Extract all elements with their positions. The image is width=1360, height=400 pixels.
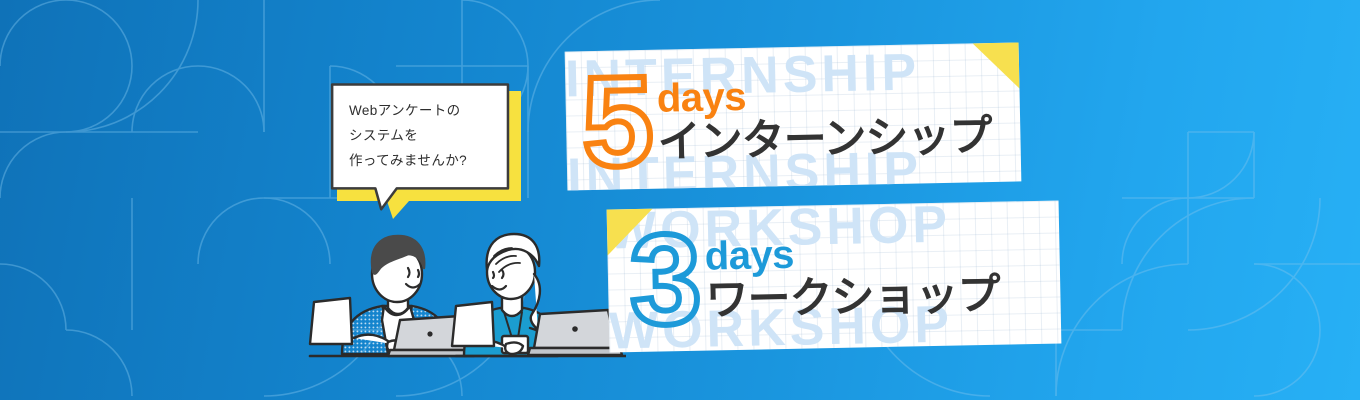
people-illustration <box>296 198 626 363</box>
speech-bubble: Webアンケートの システムを 作ってみませんか? <box>330 83 514 201</box>
card-internship[interactable]: INTERNSHIP INTERNSHIP 5 days インターンシップ <box>565 42 1022 190</box>
bubble-line-3: 作ってみませんか? <box>349 149 509 174</box>
card-title-internship: インターンシップ <box>657 114 992 166</box>
card-content-internship: 5 days インターンシップ <box>581 61 992 178</box>
card-workshop[interactable]: WORKSHOP WORKSHOP 3 days ワークショップ <box>607 200 1062 352</box>
days-label: days <box>656 72 991 119</box>
card-content-workshop: 3 days ワークショップ <box>629 220 1000 336</box>
speech-bubble-text: Webアンケートの システムを 作ってみませんか? <box>349 99 509 174</box>
bubble-line-1: Webアンケートの <box>349 99 509 124</box>
bubble-line-2: システムを <box>349 124 509 149</box>
promo-banner: Webアンケートの システムを 作ってみませんか? <box>0 0 1360 400</box>
card-title-workshop: ワークショップ <box>705 273 1000 324</box>
days-label: days <box>704 231 999 277</box>
day-count-number: 5 <box>581 68 652 178</box>
day-count-number: 3 <box>629 226 700 336</box>
